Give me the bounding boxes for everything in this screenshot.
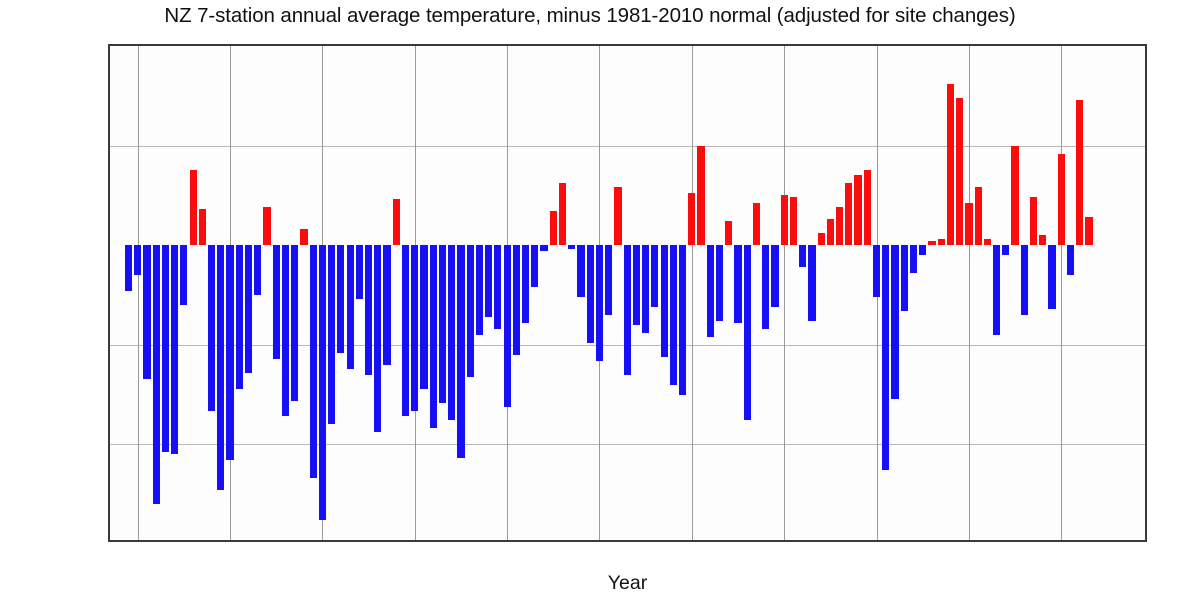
bar-1955: [550, 211, 557, 245]
bar-1980: [781, 195, 788, 245]
bar-1967: [661, 245, 668, 357]
bar-1950: [504, 245, 511, 406]
bar-1915: [180, 245, 187, 305]
bar-2001: [975, 187, 982, 245]
bar-2008: [1039, 235, 1046, 245]
bar-1944: [448, 245, 455, 420]
bar-1921: [236, 245, 243, 388]
bar-1922: [245, 245, 252, 372]
bar-1937: [383, 245, 390, 365]
bar-1941: [420, 245, 427, 388]
bar-1994: [910, 245, 917, 273]
bar-1912: [153, 245, 160, 504]
bar-2005: [1011, 146, 1018, 246]
bar-1938: [393, 199, 400, 245]
bar-1952: [522, 245, 529, 323]
bar-1914: [171, 245, 178, 454]
bar-1970: [688, 193, 695, 245]
bar-2010: [1058, 154, 1065, 246]
bar-1917: [199, 209, 206, 245]
bar-1993: [901, 245, 908, 311]
bar-1924: [263, 207, 270, 245]
bar-1936: [374, 245, 381, 432]
bar-1931: [328, 245, 335, 424]
bar-1954: [540, 245, 547, 251]
bar-1987: [845, 183, 852, 245]
bar-2007: [1030, 197, 1037, 245]
bar-1925: [273, 245, 280, 359]
bar-1997: [938, 239, 945, 245]
bar-1953: [531, 245, 538, 287]
bar-1964: [633, 245, 640, 325]
bar-1992: [891, 245, 898, 398]
bar-2012: [1076, 100, 1083, 245]
bar-1998: [947, 84, 954, 245]
bar-1909: [125, 245, 132, 291]
bar-1963: [624, 245, 631, 374]
bar-1948: [485, 245, 492, 317]
bar-1976: [744, 245, 751, 420]
bar-2004: [1002, 245, 1009, 255]
bar-1990: [873, 245, 880, 297]
bar-1934: [356, 245, 363, 299]
bar-1971: [697, 146, 704, 246]
bar-1923: [254, 245, 261, 295]
bar-1933: [347, 245, 354, 369]
plot-area: [108, 44, 1147, 542]
gridline-vertical: [138, 46, 139, 540]
bar-1996: [928, 241, 935, 245]
gridline-vertical: [692, 46, 693, 540]
bar-1956: [559, 183, 566, 245]
bar-1942: [430, 245, 437, 428]
bar-1958: [577, 245, 584, 297]
bar-2011: [1067, 245, 1074, 275]
bar-1981: [790, 197, 797, 245]
bar-1920: [226, 245, 233, 460]
bar-2003: [993, 245, 1000, 335]
bar-1959: [587, 245, 594, 343]
bar-1928: [300, 229, 307, 245]
bar-1911: [143, 245, 150, 378]
bar-1939: [402, 245, 409, 416]
bar-1983: [808, 245, 815, 321]
bar-1975: [734, 245, 741, 323]
bar-1986: [836, 207, 843, 245]
bar-2002: [984, 239, 991, 245]
bar-1947: [476, 245, 483, 335]
bar-1999: [956, 98, 963, 245]
bar-1961: [605, 245, 612, 315]
gridline-vertical: [784, 46, 785, 540]
bar-1940: [411, 245, 418, 410]
bar-2006: [1021, 245, 1028, 315]
gridline-vertical: [969, 46, 970, 540]
bar-1913: [162, 245, 169, 452]
bar-1946: [467, 245, 474, 376]
bar-1962: [614, 187, 621, 245]
bar-1918: [208, 245, 215, 410]
x-axis-title: Year: [108, 572, 1147, 595]
gridline-vertical: [1061, 46, 1062, 540]
bar-1988: [854, 175, 861, 245]
bar-1991: [882, 245, 889, 470]
bar-1916: [190, 170, 197, 246]
bar-1910: [134, 245, 141, 275]
bar-1960: [596, 245, 603, 361]
bar-1957: [568, 245, 575, 249]
bar-1919: [217, 245, 224, 490]
bar-1965: [642, 245, 649, 333]
plot-inner: [110, 46, 1145, 540]
bar-1969: [679, 245, 686, 394]
bar-1932: [337, 245, 344, 353]
bar-1935: [365, 245, 372, 374]
bar-1968: [670, 245, 677, 384]
chart-page: NZ 7-station annual average temperature,…: [0, 0, 1180, 606]
bar-1929: [310, 245, 317, 478]
bar-1951: [513, 245, 520, 355]
bar-1973: [716, 245, 723, 321]
bar-1943: [439, 245, 446, 402]
bar-1984: [818, 233, 825, 245]
bar-2009: [1048, 245, 1055, 309]
gridline-horizontal: [110, 444, 1145, 445]
bar-1972: [707, 245, 714, 337]
bar-2013: [1085, 217, 1092, 245]
bar-2000: [965, 203, 972, 245]
bar-1927: [291, 245, 298, 400]
bar-1926: [282, 245, 289, 416]
bar-1949: [494, 245, 501, 329]
bar-1985: [827, 219, 834, 245]
bar-1977: [753, 203, 760, 245]
bar-1979: [771, 245, 778, 307]
bar-1995: [919, 245, 926, 255]
bar-1945: [457, 245, 464, 458]
bar-1982: [799, 245, 806, 267]
chart-title: NZ 7-station annual average temperature,…: [0, 4, 1180, 28]
bar-1966: [651, 245, 658, 307]
gridline-horizontal: [110, 146, 1145, 147]
bar-1989: [864, 170, 871, 246]
bar-1978: [762, 245, 769, 329]
bar-1974: [725, 221, 732, 245]
bar-1930: [319, 245, 326, 520]
